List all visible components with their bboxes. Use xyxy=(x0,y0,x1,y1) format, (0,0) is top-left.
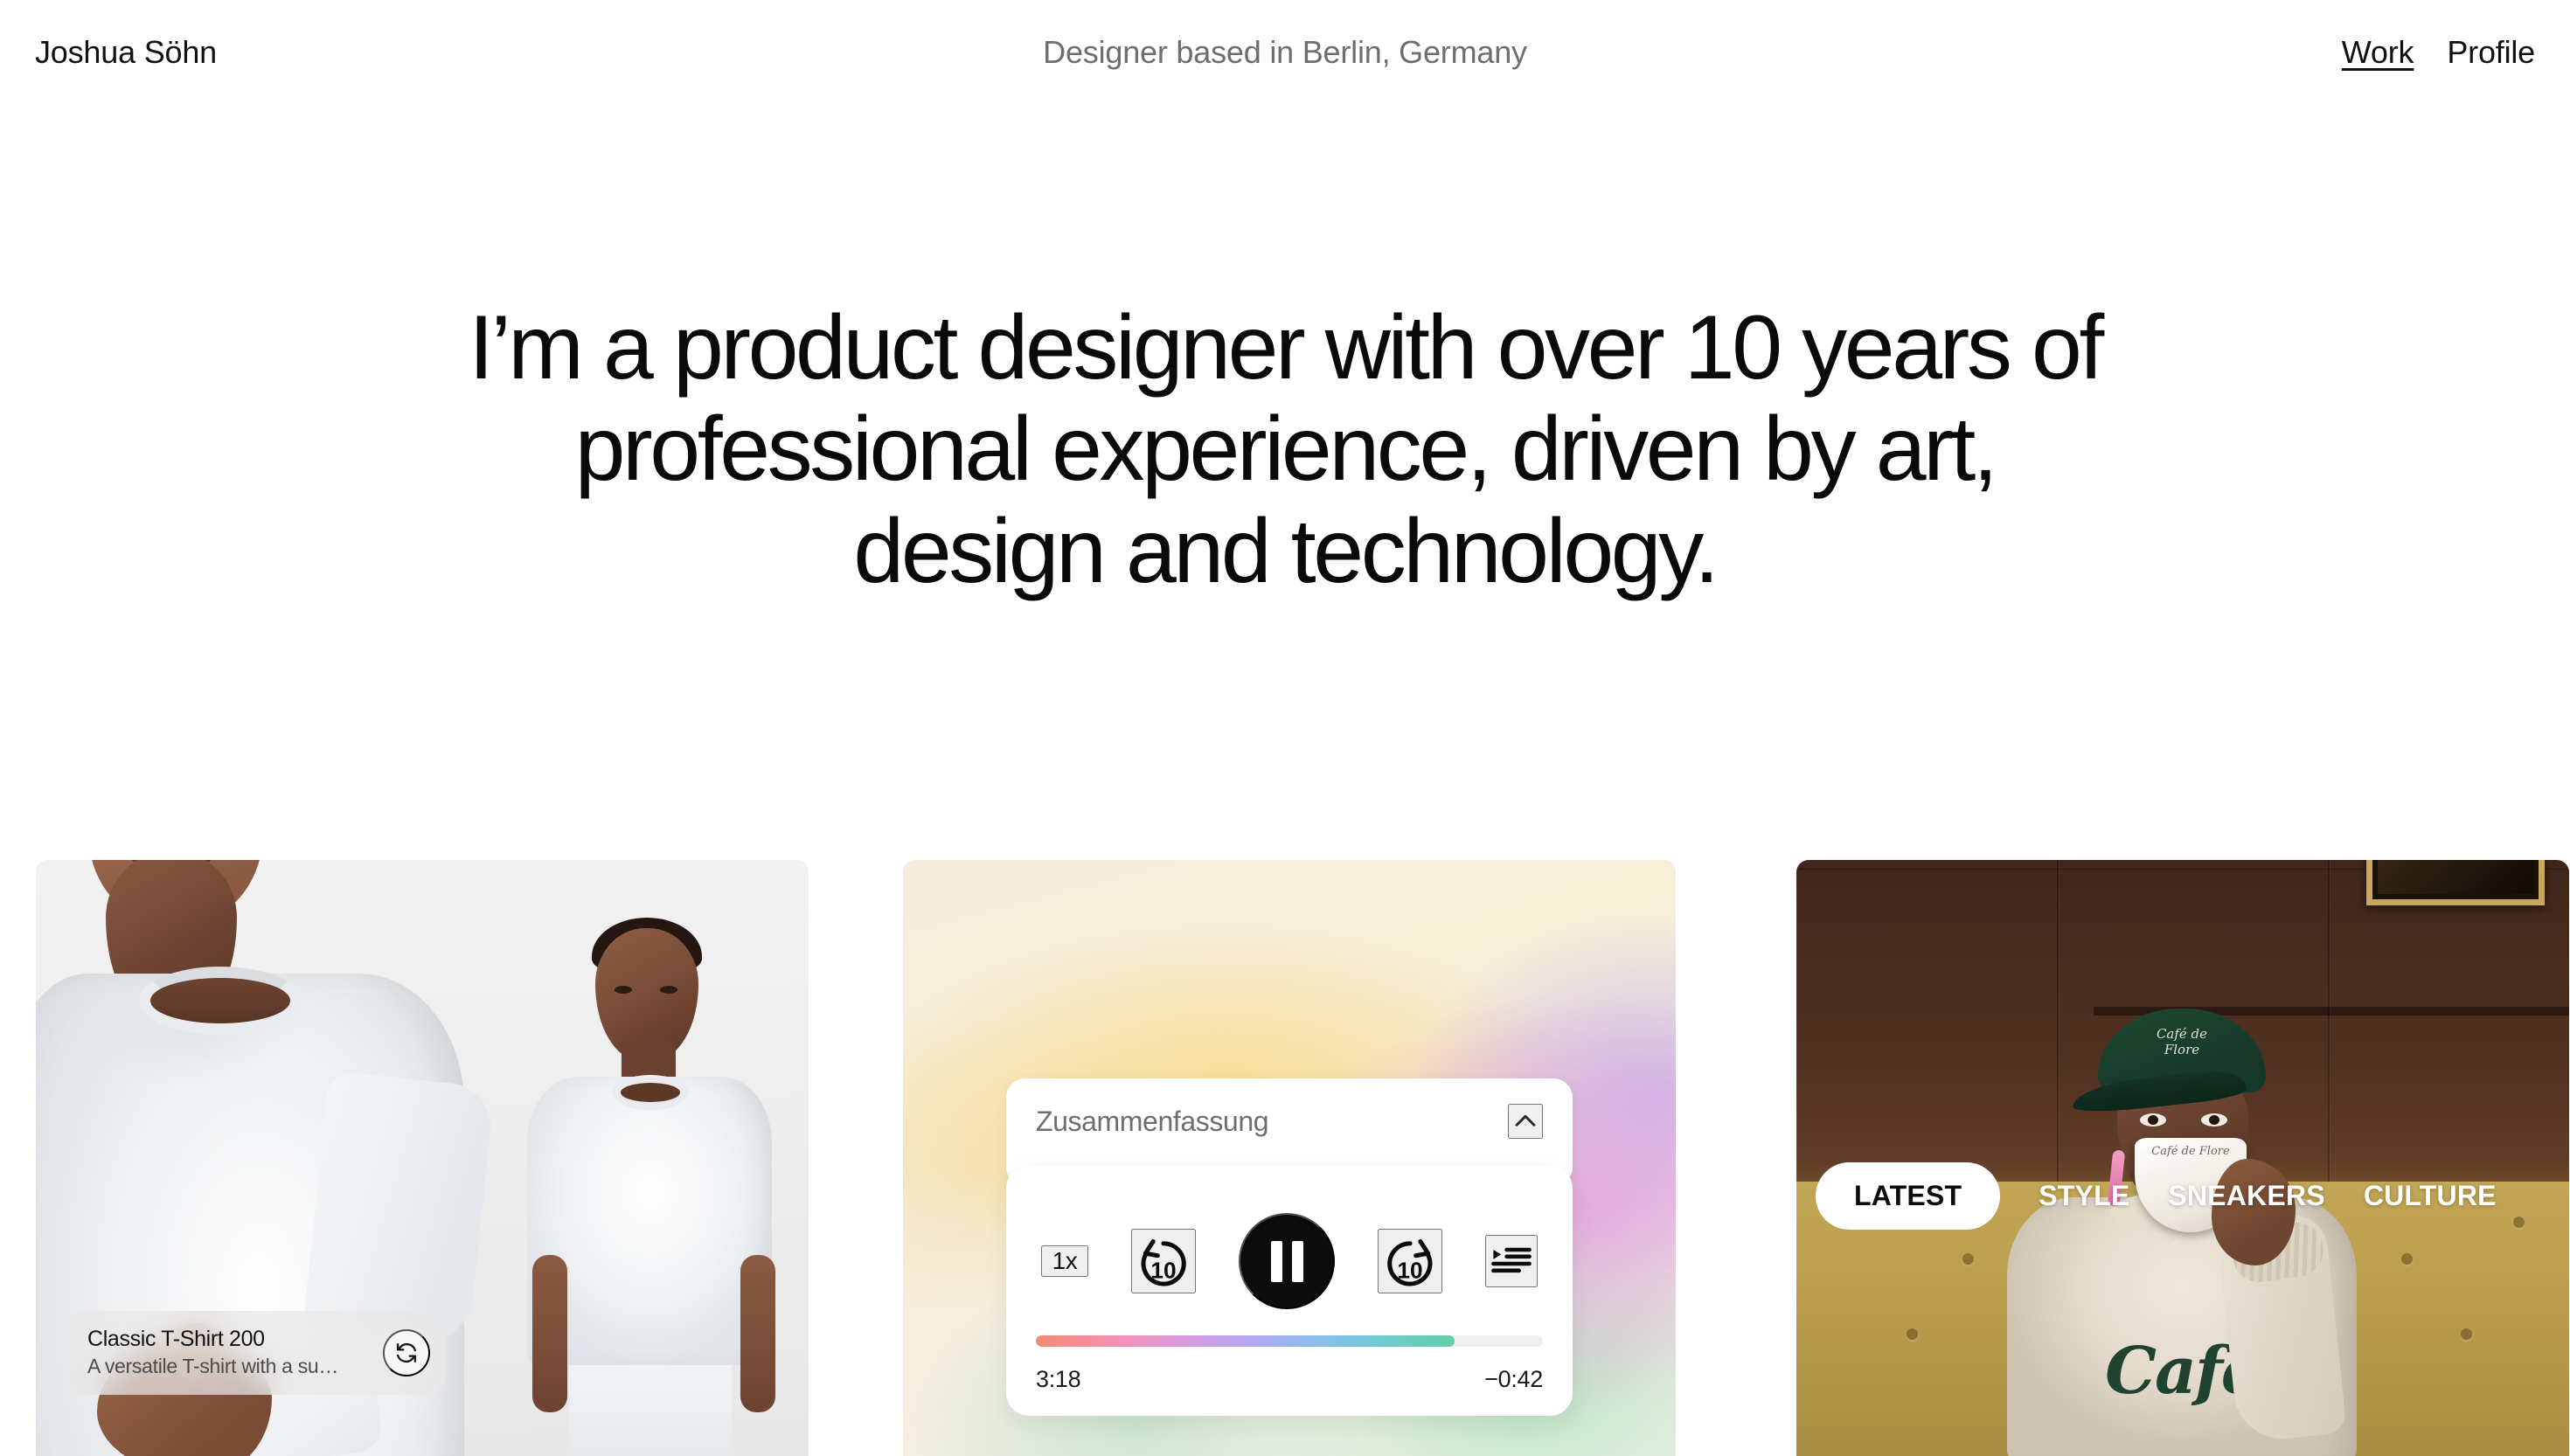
category-tab-style[interactable]: STYLE xyxy=(2039,1180,2129,1212)
collapse-button[interactable] xyxy=(1508,1104,1543,1139)
wall-picture-frame xyxy=(2366,860,2545,905)
header-tagline: Designer based in Berlin, Germany xyxy=(0,34,2570,71)
audio-player-body: 1x 10 xyxy=(1006,1166,1573,1416)
svg-text:10: 10 xyxy=(1397,1257,1422,1283)
product-description: A versatile T-shirt with a su… xyxy=(87,1353,372,1379)
audio-progress-bar[interactable] xyxy=(1036,1335,1543,1347)
remaining-time: −0:42 xyxy=(1484,1366,1543,1393)
site-header: Joshua Söhn Designer based in Berlin, Ge… xyxy=(0,0,2570,105)
category-tab-latest[interactable]: LATEST xyxy=(1816,1162,2000,1230)
category-tab-sneakers[interactable]: SNEAKERS xyxy=(2168,1180,2324,1212)
work-grid: Classic T-Shirt 200 A versatile T-shirt … xyxy=(0,860,2570,1456)
refresh-icon xyxy=(394,1341,419,1365)
cup-logo-text: Café de Flore xyxy=(2143,1145,2238,1158)
main-navigation: Work Profile xyxy=(2342,34,2535,71)
forward-10-button[interactable]: 10 xyxy=(1378,1229,1442,1293)
work-card-audio[interactable]: Zusammenfassung 1x xyxy=(903,860,1676,1456)
product-title: Classic T-Shirt 200 xyxy=(87,1326,372,1353)
nav-link-profile[interactable]: Profile xyxy=(2447,34,2535,71)
work-card-editorial[interactable]: Café de Flore Café de Flore Café LATEST … xyxy=(1796,860,2569,1456)
audio-player-widget: Zusammenfassung 1x xyxy=(1006,1078,1573,1416)
play-pause-button[interactable] xyxy=(1239,1213,1335,1309)
rewind-10-button[interactable]: 10 xyxy=(1131,1229,1196,1293)
work-card-apparel[interactable]: Classic T-Shirt 200 A versatile T-shirt … xyxy=(36,860,809,1456)
hero-line-1: I’m a product designer with over 10 year… xyxy=(437,297,2133,399)
rewind-10-icon: 10 xyxy=(1133,1231,1194,1292)
hero-line-3: design and technology. xyxy=(437,501,2133,602)
transcript-icon xyxy=(1489,1238,1534,1284)
elapsed-time: 3:18 xyxy=(1036,1366,1080,1393)
product-info-card[interactable]: Classic T-Shirt 200 A versatile T-shirt … xyxy=(68,1311,446,1395)
nav-link-work[interactable]: Work xyxy=(2342,34,2414,71)
category-tab-culture[interactable]: CULTURE xyxy=(2364,1180,2497,1212)
audio-timestamps: 3:18 −0:42 xyxy=(1036,1366,1543,1393)
brand-logo[interactable]: Joshua Söhn xyxy=(35,34,217,71)
transcript-button[interactable] xyxy=(1485,1235,1538,1287)
chevron-up-icon xyxy=(1511,1106,1540,1136)
editorial-photo: Café de Flore Café de Flore Café xyxy=(1796,860,2569,1456)
page-title: I’m a product designer with over 10 year… xyxy=(437,297,2133,602)
audio-progress-fill xyxy=(1036,1335,1455,1347)
category-navigation: LATEST STYLE SNEAKERS CULTURE xyxy=(1816,1162,2497,1230)
audio-controls: 1x 10 xyxy=(1036,1196,1543,1327)
model-fullbody-illustration xyxy=(511,912,800,1456)
forward-10-icon: 10 xyxy=(1379,1231,1441,1292)
product-info-text: Classic T-Shirt 200 A versatile T-shirt … xyxy=(87,1326,372,1380)
hero-section: I’m a product designer with over 10 year… xyxy=(0,297,2570,602)
cap-logo-text: Café de Flore xyxy=(2147,1026,2217,1061)
refresh-button[interactable] xyxy=(383,1329,430,1376)
pause-icon xyxy=(1271,1241,1303,1282)
playback-speed-button[interactable]: 1x xyxy=(1041,1245,1088,1277)
hero-line-2: professional experience, driven by art, xyxy=(437,399,2133,500)
svg-text:10: 10 xyxy=(1150,1257,1176,1283)
audio-player-title: Zusammenfassung xyxy=(1036,1106,1268,1138)
